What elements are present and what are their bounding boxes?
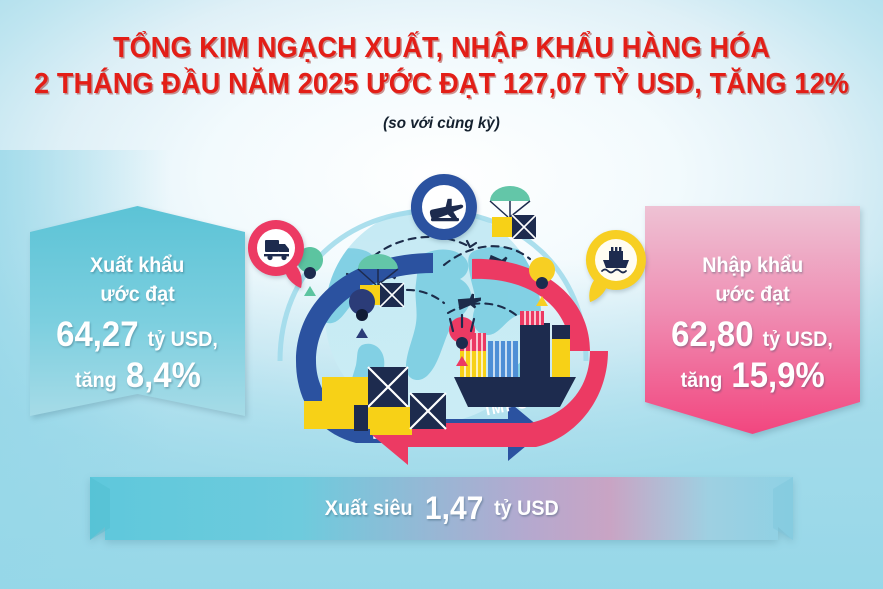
page-title-line-1: TỔNG KIM NGẠCH XUẤT, NHẬP KHẨU HÀNG HÓA bbox=[31, 32, 852, 64]
export-panel-copy: Xuất khẩu ước đạt 64,27 tỷ USD, tăng 8,4… bbox=[30, 206, 245, 442]
export-lead-line-2: ước đạt bbox=[100, 281, 174, 309]
surplus-unit: tỷ USD bbox=[494, 497, 559, 521]
export-value-row: 64,27 tỷ USD, bbox=[57, 316, 219, 354]
import-panel-copy: Nhập khẩu ước đạt 62,80 tỷ USD, tăng 15,… bbox=[645, 206, 860, 442]
import-growth-label: tăng bbox=[680, 369, 722, 392]
import-growth-value: 15,9% bbox=[731, 356, 824, 395]
import-lead-line-1: Nhập khẩu bbox=[702, 252, 803, 280]
import-stat-panel: Nhập khẩu ước đạt 62,80 tỷ USD, tăng 15,… bbox=[645, 206, 860, 442]
export-lead-line-1: Xuất khẩu bbox=[90, 252, 184, 280]
ship-badge[interactable] bbox=[578, 228, 650, 310]
import-unit: tỷ USD, bbox=[763, 328, 833, 351]
export-growth-label: tăng bbox=[75, 369, 117, 392]
import-value: 62,80 bbox=[672, 315, 754, 354]
export-stat-panel: Xuất khẩu ước đạt 64,27 tỷ USD, tăng 8,4… bbox=[30, 206, 245, 442]
surplus-value: 1,47 bbox=[424, 490, 483, 527]
page-subtitle: (so với cùng kỳ) bbox=[22, 115, 861, 133]
ribbon-copy: Xuất siêu 1,47 tỷ USD bbox=[90, 477, 793, 540]
export-value: 64,27 bbox=[57, 315, 139, 354]
export-growth-value: 8,4% bbox=[125, 356, 200, 395]
import-lead-line-2: ước đạt bbox=[715, 281, 789, 309]
truck-badge[interactable] bbox=[243, 218, 309, 296]
export-growth-row: tăng 8,4% bbox=[75, 356, 201, 396]
plane-badge[interactable] bbox=[405, 172, 483, 264]
parachute-drop-right bbox=[490, 186, 536, 239]
import-growth-row: tăng 15,9% bbox=[680, 356, 824, 396]
infographic-canvas: TỔNG KIM NGẠCH XUẤT, NHẬP KHẨU HÀNG HÓA … bbox=[0, 0, 883, 589]
export-unit: tỷ USD, bbox=[148, 328, 218, 351]
trade-surplus-ribbon: Xuất siêu 1,47 tỷ USD bbox=[90, 477, 793, 540]
header: TỔNG KIM NGẠCH XUẤT, NHẬP KHẨU HÀNG HÓA … bbox=[0, 32, 883, 133]
surplus-label: Xuất siêu bbox=[325, 497, 413, 521]
page-title-line-2: 2 THÁNG ĐẦU NĂM 2025 ƯỚC ĐẠT 127,07 TỶ U… bbox=[31, 68, 852, 100]
import-value-row: 62,80 tỷ USD, bbox=[672, 316, 834, 354]
